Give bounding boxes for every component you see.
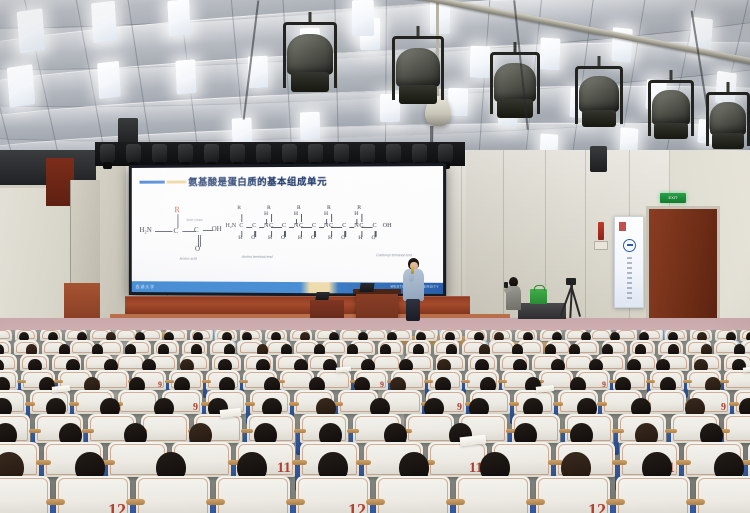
audience-seating-area: 999999999999911111111121212 — [0, 330, 750, 513]
chem-hydroxyl-group: OH — [212, 225, 222, 233]
peptide-carbon: C — [359, 223, 363, 229]
bond — [315, 231, 316, 237]
recessed-ceiling-light-panel — [175, 59, 196, 95]
stage-spotlight — [706, 92, 750, 146]
seat[interactable] — [136, 476, 210, 513]
title-rule-blue — [140, 181, 165, 184]
seat-number: 12 — [108, 501, 126, 513]
left-wall-lower-wood — [64, 283, 100, 319]
peptide-carbon: C — [299, 223, 303, 229]
spotlight-housing — [652, 90, 691, 125]
recessed-ceiling-light-panel — [91, 1, 117, 44]
alarm-call-point[interactable] — [594, 241, 608, 250]
seat-number: 12 — [348, 501, 366, 513]
spotlight-lens — [291, 72, 330, 92]
spotlight-lens — [399, 85, 436, 104]
seat[interactable] — [216, 476, 290, 513]
banner-logo-icon — [623, 239, 636, 252]
bond — [255, 231, 256, 237]
front-stage-light — [386, 144, 401, 164]
bond — [331, 214, 332, 222]
peptide-carbon: C — [329, 223, 333, 229]
secondary-laptop[interactable] — [315, 292, 329, 300]
peptide-carbonyl-carbon: C — [252, 223, 256, 229]
spotlight-housing — [494, 63, 536, 101]
seat-armrest — [509, 402, 519, 405]
recessed-ceiling-light-panel — [97, 61, 121, 100]
stage-spotlight — [575, 66, 623, 124]
seat-armrest — [646, 380, 655, 383]
front-stage-light — [126, 144, 141, 164]
front-stage-light — [100, 144, 115, 164]
banner-text-block — [627, 257, 632, 299]
peptide-amide-hydrogen: H — [264, 211, 268, 217]
seat-armrest — [292, 460, 307, 465]
front-stage-light — [230, 144, 245, 164]
seat-armrest — [245, 402, 255, 405]
peptide-side-chain: R — [267, 205, 271, 211]
bond — [266, 219, 267, 224]
front-stage-light — [256, 144, 271, 164]
bond — [271, 214, 272, 222]
seat[interactable] — [616, 476, 690, 513]
spotlight-lens — [582, 110, 617, 127]
seat-armrest — [165, 380, 174, 383]
smartphone-icon — [504, 282, 508, 288]
peptide-carbonyl-carbon: C — [342, 223, 346, 229]
seat[interactable] — [696, 476, 750, 513]
seat-armrest — [366, 499, 385, 505]
peptide-carbonyl-carbon: C — [312, 223, 316, 229]
peptide-amide-hydrogen: H — [324, 211, 328, 217]
slide-title: 氨基酸是蛋白质的基本组成单元 — [188, 174, 327, 189]
seat[interactable]: 12 — [536, 476, 610, 513]
bond — [345, 231, 346, 237]
bond — [301, 231, 302, 237]
spotlight-housing — [710, 102, 747, 135]
banner-seal-icon — [619, 222, 626, 231]
bond — [285, 231, 286, 237]
bond — [241, 231, 242, 237]
fire-alarm-icon — [598, 222, 604, 240]
front-stage-light — [438, 144, 453, 164]
recessed-ceiling-light-panel — [539, 37, 560, 70]
peptide-amide-hydrogen: H — [354, 211, 358, 217]
chem-carbonyl-oxygen: O — [195, 245, 200, 253]
bond — [155, 231, 173, 232]
slide-footer-logo: 西湖大学 — [136, 284, 155, 290]
stage-spotlight — [392, 36, 444, 100]
seat[interactable]: 12 — [56, 476, 130, 513]
chem-left-caption: Amino acid — [167, 257, 210, 261]
chem-r-group: R — [175, 205, 180, 214]
recessed-ceiling-light-panel — [352, 0, 374, 36]
chem-carbonyl-carbon: C — [194, 226, 199, 234]
front-stage-light — [360, 144, 375, 164]
peptide-c-terminal: OH — [383, 223, 392, 229]
presenter — [400, 258, 426, 320]
spotlight-lens — [654, 123, 687, 140]
recessed-ceiling-light-panel — [7, 64, 36, 108]
spotlight-lens — [497, 99, 533, 118]
peptide-side-chain: R — [237, 205, 241, 211]
seat-armrest — [446, 499, 465, 505]
seat-armrest — [606, 499, 625, 505]
bond — [331, 231, 332, 237]
front-stage-light — [152, 144, 167, 164]
peptide-carbon: C — [239, 223, 243, 229]
seat[interactable] — [376, 476, 450, 513]
chem-n-terminal-label: Amino terminal end — [237, 255, 277, 259]
front-stage-light — [204, 144, 219, 164]
recessed-ceiling-light-panel — [470, 46, 491, 79]
spotlight-housing — [579, 76, 619, 112]
seat-armrest — [241, 429, 253, 433]
front-stage-light — [178, 144, 193, 164]
recessed-ceiling-light-panel — [167, 0, 190, 37]
bond — [200, 235, 201, 247]
seat-armrest — [46, 499, 65, 505]
seat-number: 9 — [602, 381, 606, 389]
stage-spotlight — [648, 80, 694, 136]
exit-sign-icon: EXIT — [660, 193, 686, 203]
peptide-n-terminal: H₂N — [226, 223, 237, 229]
recessed-ceiling-light-panel — [300, 112, 320, 141]
spotlight-housing — [287, 34, 332, 75]
bond — [271, 231, 272, 237]
green-tote-bag — [530, 289, 547, 304]
projection-screen: 氨基酸是蛋白质的基本组成单元 R C H₂N C O OH Side chain… — [132, 166, 443, 294]
seat[interactable] — [456, 476, 530, 513]
peptide-carbonyl-carbon: C — [373, 223, 377, 229]
bond — [177, 214, 178, 228]
front-stage-light — [282, 144, 297, 164]
seat-number: 9 — [193, 403, 198, 413]
chem-amino-group: H₂N — [140, 226, 152, 234]
spotlight-housing — [396, 48, 440, 88]
seat-number: 12 — [588, 501, 606, 513]
front-stage-light — [412, 144, 427, 164]
peptide-side-chain: R — [357, 205, 361, 211]
stage-spotlight — [283, 22, 337, 88]
title-rule-gold — [167, 180, 187, 183]
seat-armrest — [526, 499, 545, 505]
side-equipment-table — [518, 303, 566, 319]
recessed-ceiling-light-panel — [17, 8, 46, 54]
presenter-laptop[interactable] — [359, 283, 374, 292]
stage-spotlight — [490, 52, 540, 114]
presenter-trousers — [406, 299, 420, 321]
projection-screen-frame: 氨基酸是蛋白质的基本组成单元 R C H₂N C O OH Side chain… — [129, 163, 446, 297]
bond — [326, 219, 327, 224]
bond — [296, 219, 297, 224]
bond — [376, 231, 377, 237]
exit-door[interactable] — [646, 206, 720, 336]
peptide-amide-hydrogen: H — [294, 211, 298, 217]
seat[interactable] — [0, 476, 50, 513]
camera-tripod — [560, 278, 582, 318]
peptide-carbonyl-carbon: C — [282, 223, 286, 229]
seat-armrest — [424, 380, 433, 383]
front-stage-light — [334, 144, 349, 164]
bond — [356, 219, 357, 224]
bond — [301, 214, 302, 222]
photographer — [504, 277, 522, 321]
seat-armrest — [126, 499, 145, 505]
seat-armrest — [686, 499, 705, 505]
bond — [361, 214, 362, 222]
chem-c-terminal-label: Carboxyl terminal end — [370, 253, 419, 257]
seat-armrest — [286, 499, 305, 505]
peptide-carbon: C — [269, 223, 273, 229]
peptide-side-chain: R — [297, 205, 301, 211]
event-banner — [614, 216, 644, 308]
microphone-icon — [411, 267, 414, 274]
chem-side-chain-label: Side chain — [186, 218, 202, 222]
seat-armrest — [729, 402, 739, 405]
spotlight-lens — [712, 133, 744, 149]
bond — [361, 231, 362, 237]
lecture-hall-photo: EXIT 氨基酸是蛋白质的基本组成单元 R C H₂N C O OH Side … — [0, 0, 750, 513]
handout-paper — [742, 366, 750, 373]
chem-alpha-carbon: C — [174, 227, 179, 235]
front-stage-light — [308, 144, 323, 164]
peptide-side-chain: R — [327, 205, 331, 211]
wall-speaker-right — [590, 146, 607, 172]
seat[interactable]: 12 — [296, 476, 370, 513]
bond — [241, 214, 242, 222]
seat-armrest — [206, 499, 225, 505]
